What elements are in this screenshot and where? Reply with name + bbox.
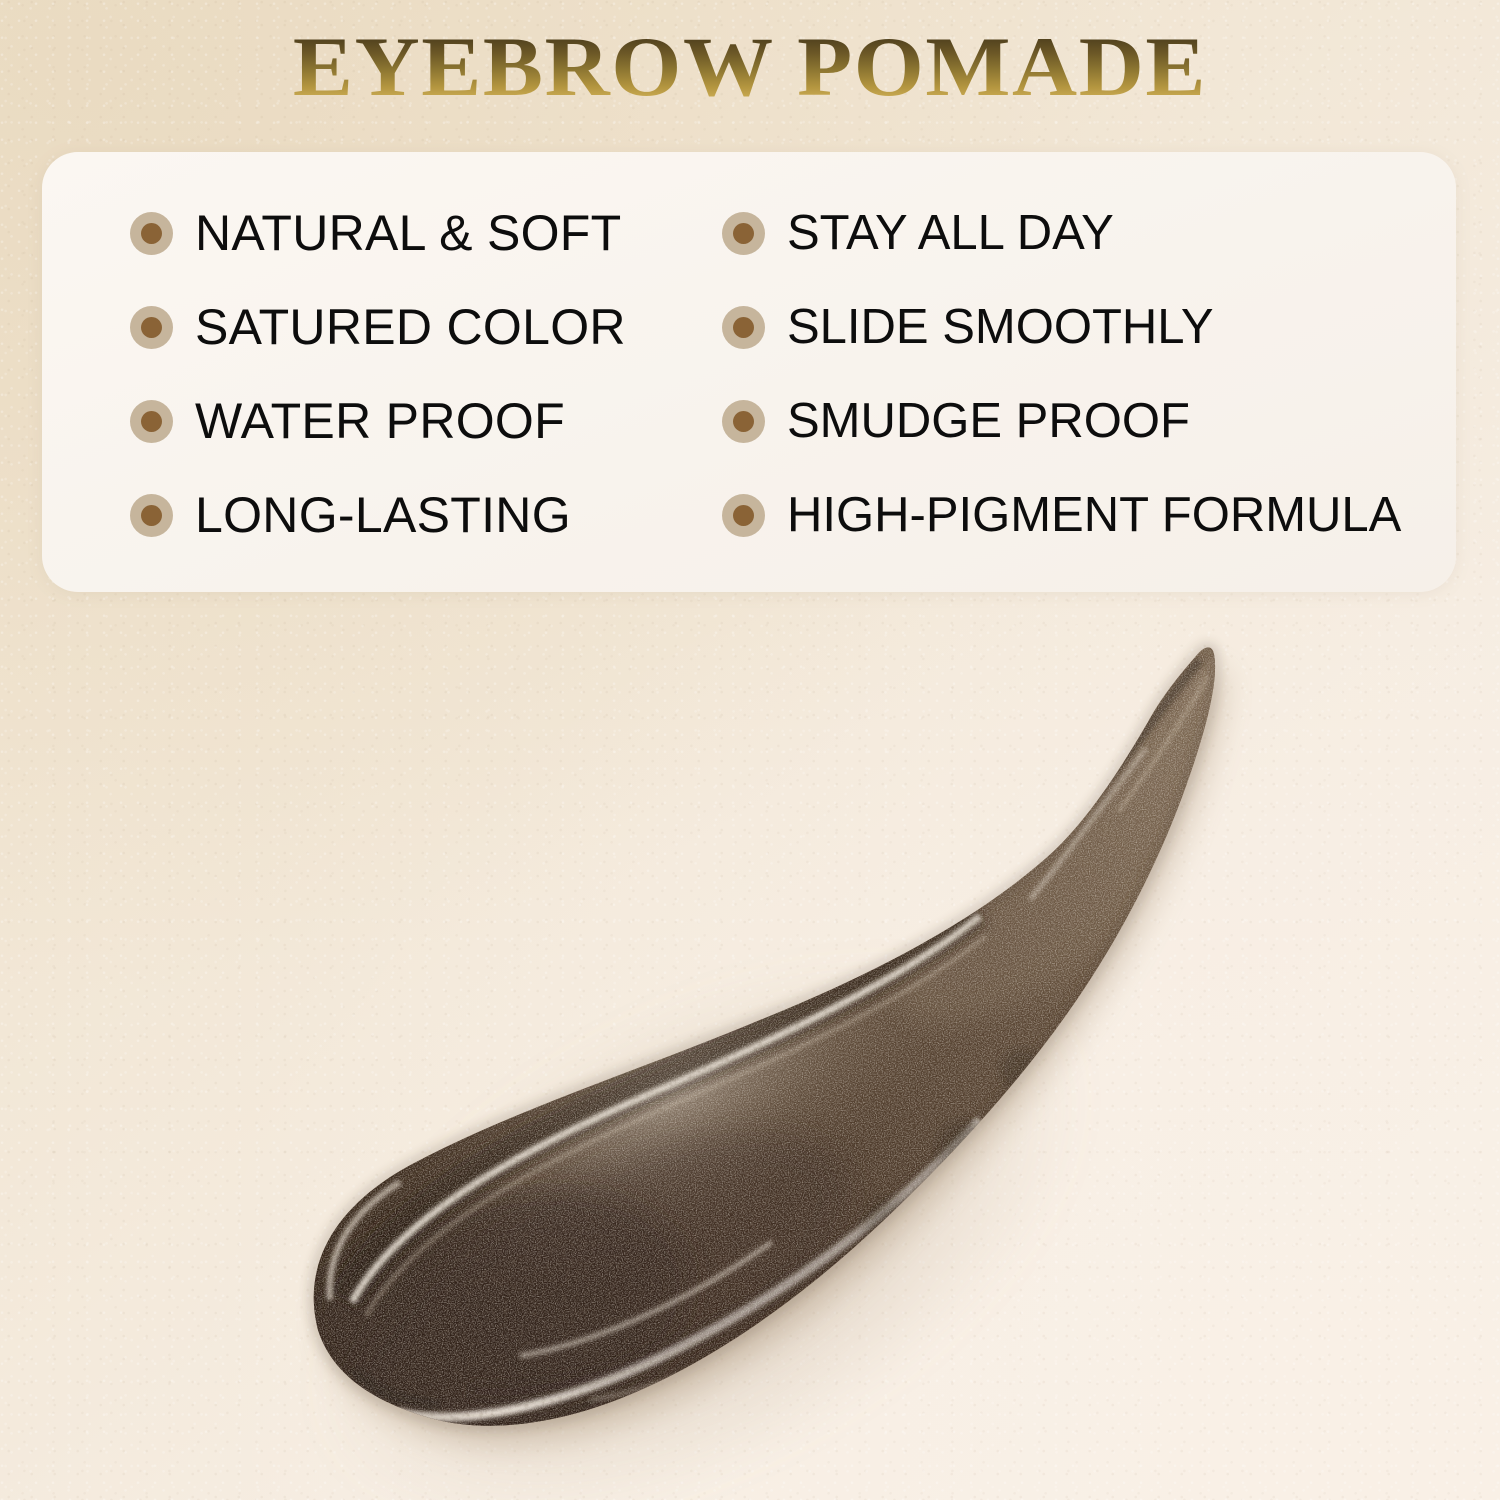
feature-item-natural-soft: NATURAL & SOFT [130,186,722,280]
feature-item-water-proof: WATER PROOF [130,374,722,468]
bullet-dot-icon [130,212,173,255]
feature-item-slide-smoothly: SLIDE SMOOTHLY [722,280,1442,374]
feature-label: SATURED COLOR [195,302,626,352]
feature-label: HIGH-PIGMENT FORMULA [787,491,1401,540]
page-title: EYEBROW POMADE [0,24,1500,111]
bullet-dot-icon [130,494,173,537]
feature-list-card: NATURAL & SOFT STAY ALL DAY SATURED COLO… [42,152,1456,592]
bullet-dot-icon [722,400,765,443]
feature-label: SMUDGE PROOF [787,397,1190,446]
feature-item-smudge-proof: SMUDGE PROOF [722,374,1442,468]
bullet-dot-icon [130,400,173,443]
feature-item-satured-color: SATURED COLOR [130,280,722,374]
bullet-dot-icon [722,494,765,537]
feature-item-high-pigment-formula: HIGH-PIGMENT FORMULA [722,468,1442,562]
feature-label: SLIDE SMOOTHLY [787,303,1214,352]
eyebrow-pomade-smear [0,600,1500,1500]
product-swatch-area [0,600,1500,1500]
feature-label: WATER PROOF [195,396,565,446]
feature-label: NATURAL & SOFT [195,208,621,258]
feature-label: STAY ALL DAY [787,209,1114,258]
feature-item-stay-all-day: STAY ALL DAY [722,186,1442,280]
bullet-dot-icon [722,306,765,349]
feature-grid: NATURAL & SOFT STAY ALL DAY SATURED COLO… [42,152,1456,592]
bullet-dot-icon [130,306,173,349]
feature-item-long-lasting: LONG-LASTING [130,468,722,562]
bullet-dot-icon [722,212,765,255]
feature-label: LONG-LASTING [195,490,571,540]
